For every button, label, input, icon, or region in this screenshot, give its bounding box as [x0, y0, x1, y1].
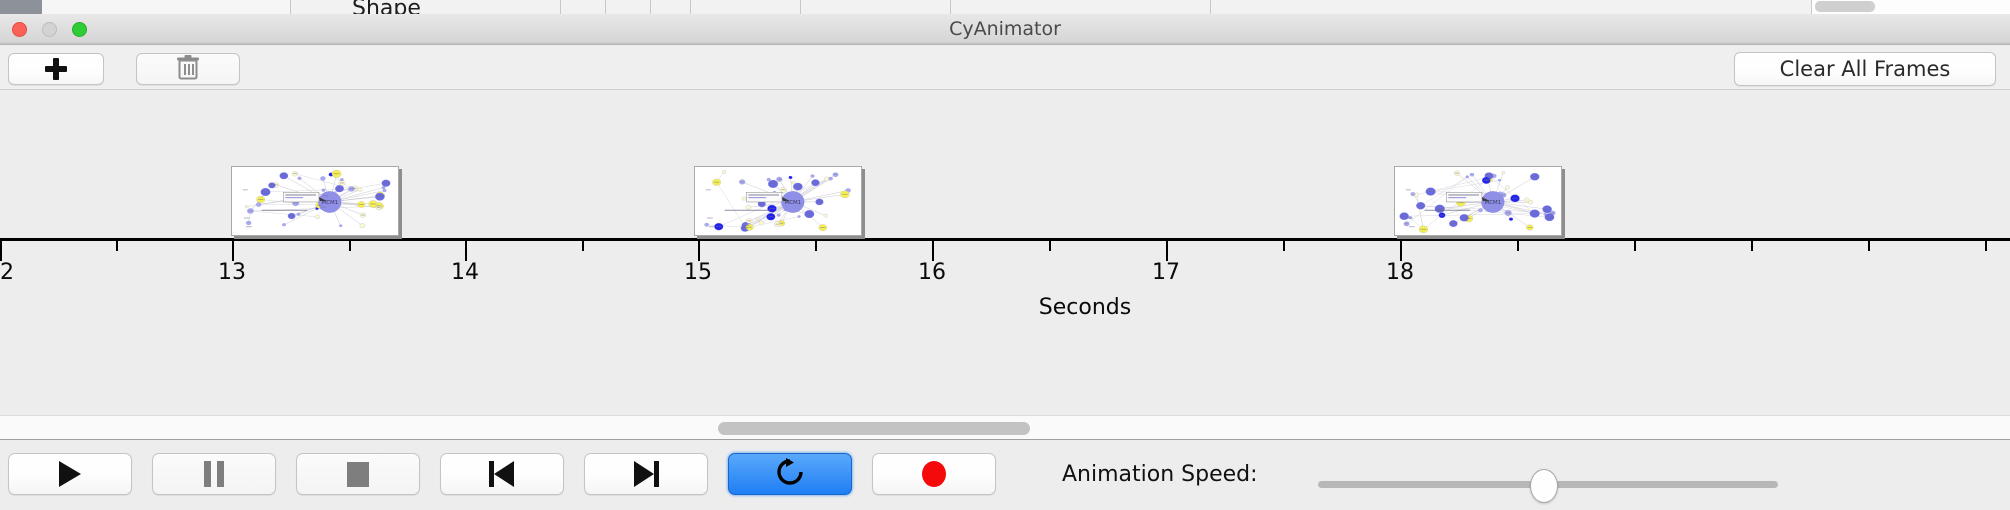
loop-button[interactable]	[728, 453, 852, 495]
parent-tab-4	[650, 0, 692, 14]
add-frame-button[interactable]	[8, 53, 104, 85]
first-frame-button[interactable]	[440, 453, 564, 495]
clear-all-frames-button[interactable]: Clear All Frames	[1734, 52, 1996, 86]
parent-window-strip: Shape	[0, 0, 2010, 14]
axis-tick-label-12: 12	[0, 260, 14, 285]
plus-icon	[45, 58, 67, 80]
cyanimator-window: Shape CyAnimator	[0, 0, 2010, 510]
axis-tick-label-16: 16	[918, 260, 946, 285]
play-button[interactable]	[8, 453, 132, 495]
loop-icon	[775, 457, 805, 491]
axis-tick-minor-15	[1751, 241, 1753, 251]
window-title: CyAnimator	[0, 14, 2010, 45]
axis-tick-14	[465, 241, 467, 261]
frame-toolbar: Clear All Frames	[0, 45, 2010, 90]
parent-tab-6	[800, 0, 952, 14]
axis-tick-17	[1166, 241, 1168, 261]
stop-icon	[347, 462, 369, 487]
axis-tick-16	[932, 241, 934, 261]
parent-tab-1	[290, 0, 562, 14]
timeline-panel[interactable]: 12131415161718 MCM1MCM1MCM1 Seconds	[0, 90, 2010, 415]
axis-tick-minor-9	[1049, 241, 1051, 251]
parent-tab-3	[605, 0, 652, 14]
frame-thumbnail-1[interactable]: MCM1	[231, 166, 399, 236]
axis-tick-minor-1	[116, 241, 118, 251]
timeline-scrollbar-thumb[interactable]	[718, 422, 1030, 435]
parent-strip-panel	[42, 0, 290, 14]
axis-tick-minor-11	[1283, 241, 1285, 251]
pause-button[interactable]	[152, 453, 276, 495]
timeline-scrollbar-track[interactable]	[0, 415, 2010, 440]
network-preview: MCM1	[695, 167, 861, 235]
network-preview: MCM1	[1395, 167, 1561, 235]
axis-title-seconds: Seconds	[1039, 295, 1131, 320]
skip-back-icon	[489, 461, 515, 487]
playback-control-bar: Animation Speed:	[0, 440, 2010, 510]
animation-speed-slider-thumb[interactable]	[1530, 469, 1558, 503]
axis-tick-13	[232, 241, 234, 261]
axis-tick-label-17: 17	[1152, 260, 1180, 285]
stop-button[interactable]	[296, 453, 420, 495]
parent-scrollbar[interactable]	[1815, 1, 1875, 12]
record-button[interactable]	[872, 453, 996, 495]
last-frame-button[interactable]	[584, 453, 708, 495]
axis-tick-minor-13	[1517, 241, 1519, 251]
parent-label-shape: Shape	[352, 0, 421, 14]
axis-tick-minor-3	[349, 241, 351, 251]
axis-tick-minor-16	[1868, 241, 1870, 251]
delete-frame-button[interactable]	[136, 53, 240, 85]
parent-tab-7	[950, 0, 1212, 14]
axis-tick-18	[1400, 241, 1402, 261]
animation-speed-label: Animation Speed:	[1062, 462, 1258, 487]
play-icon	[59, 461, 81, 487]
axis-tick-minor-17	[1985, 241, 1987, 251]
parent-tab-8	[1210, 0, 1812, 14]
axis-tick-minor-7	[815, 241, 817, 251]
axis-tick-label-14: 14	[451, 260, 479, 285]
parent-tab-5	[690, 0, 802, 14]
axis-tick-minor-14	[1634, 241, 1636, 251]
axis-tick-12	[0, 241, 2, 261]
clear-all-frames-label: Clear All Frames	[1780, 57, 1951, 81]
pause-icon	[204, 461, 224, 487]
parent-strip-dark	[0, 0, 42, 14]
skip-forward-icon	[633, 461, 659, 487]
axis-tick-label-18: 18	[1386, 260, 1414, 285]
axis-tick-15	[698, 241, 700, 261]
network-preview: MCM1	[232, 167, 398, 235]
title-bar: CyAnimator	[0, 14, 2010, 45]
frame-thumbnail-2[interactable]: MCM1	[694, 166, 862, 236]
parent-tab-2	[560, 0, 607, 14]
axis-tick-label-15: 15	[684, 260, 712, 285]
record-icon	[922, 461, 946, 487]
timeline-axis	[0, 238, 2010, 241]
axis-tick-label-13: 13	[218, 260, 246, 285]
frame-thumbnail-3[interactable]: MCM1	[1394, 166, 1562, 236]
axis-tick-minor-5	[582, 241, 584, 251]
trash-icon	[175, 53, 201, 85]
